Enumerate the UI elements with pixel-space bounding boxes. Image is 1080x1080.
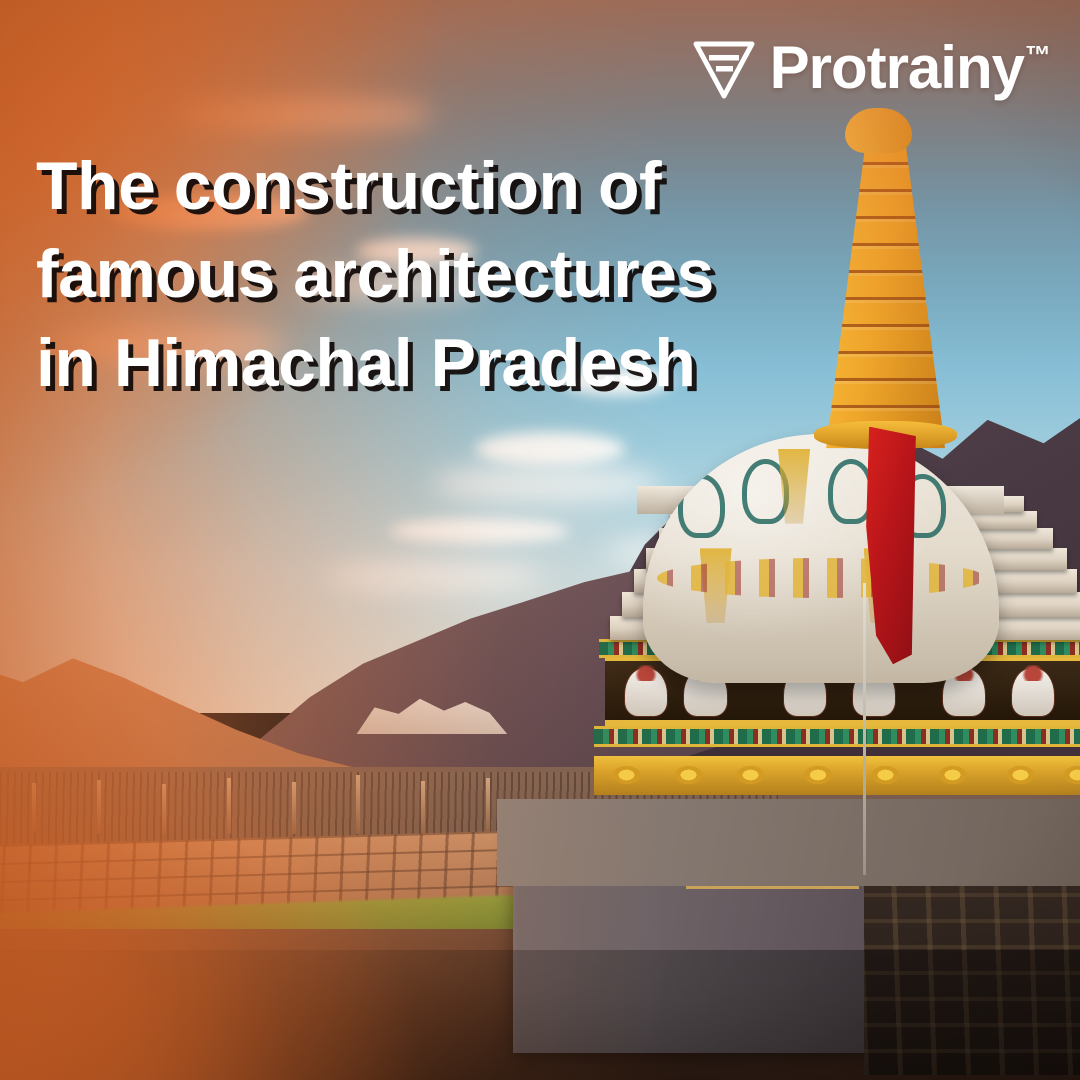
- triangle-f-logo-icon: [692, 36, 756, 100]
- brand-name-text: Protrainy: [770, 38, 1024, 98]
- headline-line-2: famous architectures: [36, 230, 816, 318]
- trademark-symbol: ™: [1025, 42, 1050, 68]
- headline-line-3: in Himachal Pradesh: [36, 319, 816, 407]
- headline: The construction of famous architectures…: [36, 142, 816, 407]
- brand-name: Protrainy™: [770, 38, 1050, 98]
- social-post-canvas: Protrainy™ The construction of famous ar…: [0, 0, 1080, 1080]
- headline-line-1: The construction of: [36, 142, 816, 230]
- brand-lockup[interactable]: Protrainy™: [692, 36, 1050, 100]
